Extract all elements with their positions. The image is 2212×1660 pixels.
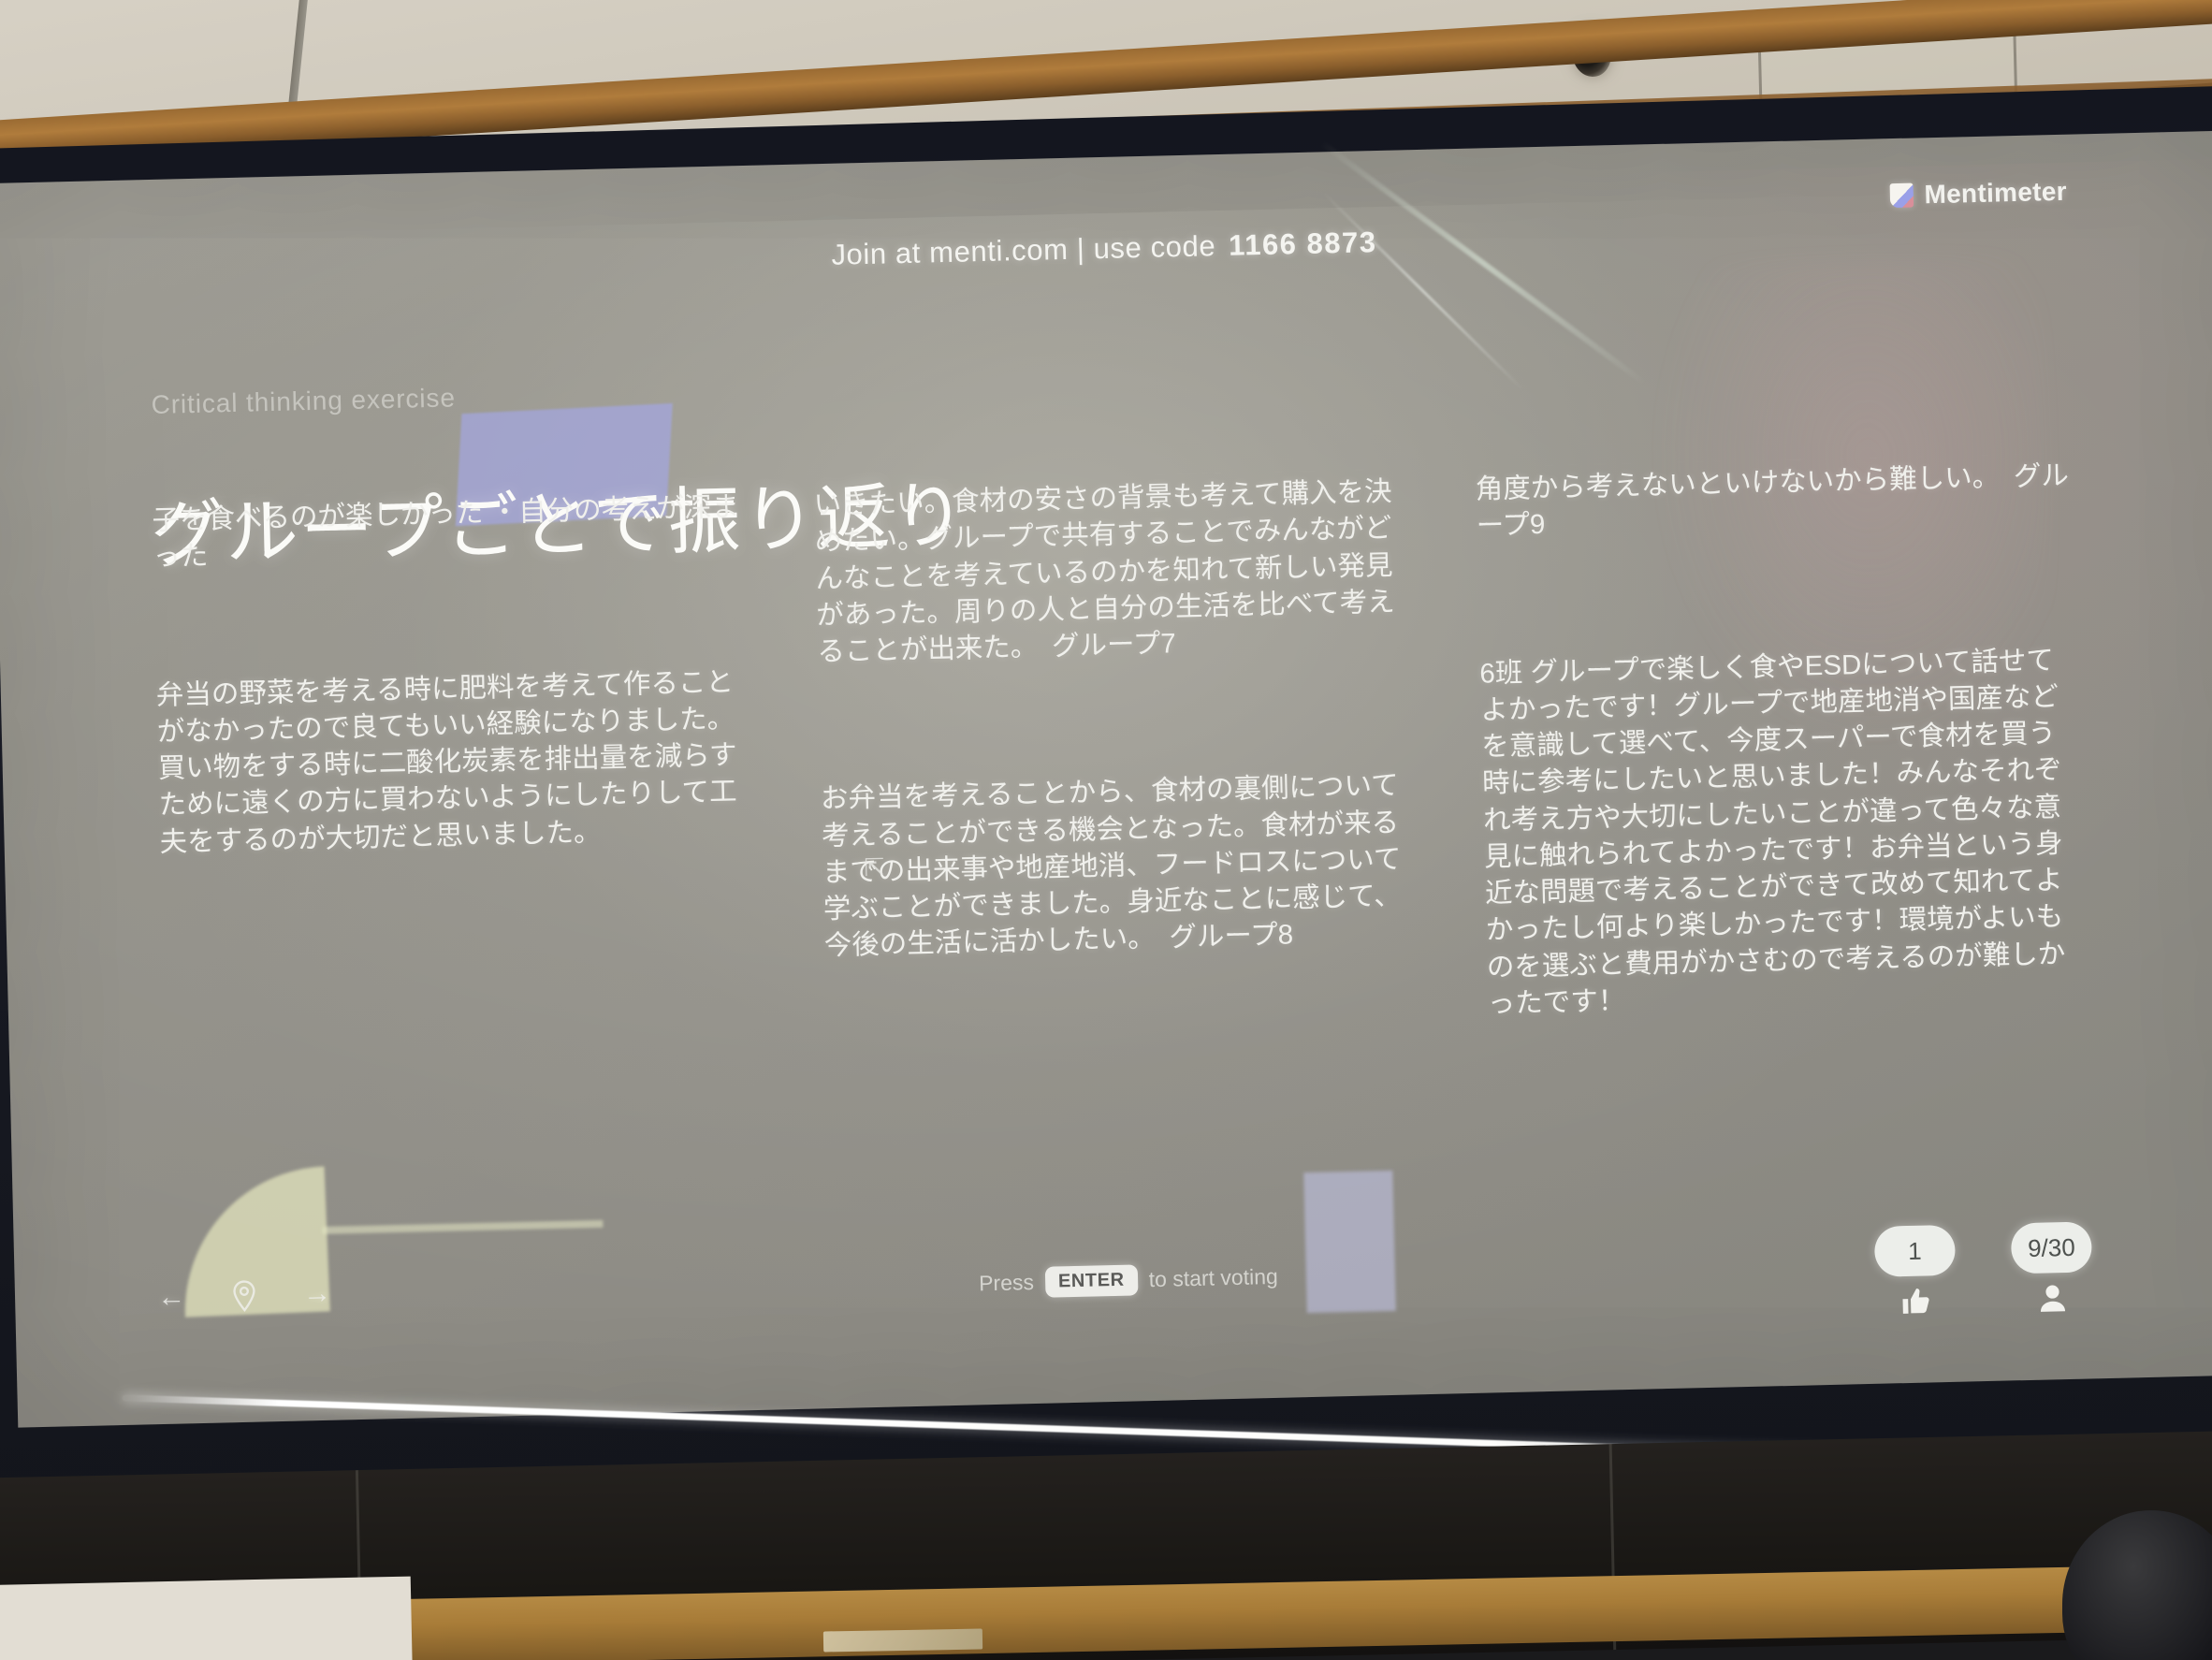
response-card: お弁当を考えることから、食材の裏側について考えることができる機会となった。食材が… xyxy=(821,767,1419,965)
responses-grid: に 自分の力で考えて取り組めなかった ・お菓子を食べるのが楽しかった ・自分の考… xyxy=(152,453,2088,1293)
engagement-counters: 1 9/30 xyxy=(1874,1221,2093,1323)
responses-column-3: 食べ物をどこから買うか迷いました。いろんな角度から考えないといけないから難しい。… xyxy=(1475,453,2088,1262)
slide-eyebrow: Critical thinking exercise xyxy=(151,383,456,420)
start-voting-hint: Press ENTER to start voting xyxy=(979,1261,1278,1300)
arrow-right-icon[interactable]: → xyxy=(301,1278,334,1311)
navigation-controls[interactable]: ← → xyxy=(155,1278,334,1314)
mentimeter-wordmark: Mentimeter xyxy=(1924,177,2067,211)
projection-screen: Join at menti.com | use code1166 8873 Me… xyxy=(0,131,2212,1428)
response-card: 弁当の野菜を考える時に肥料を考えて作ることがなかったので良てもいい経験になりまし… xyxy=(155,663,754,861)
responses-column-1: に 自分の力で考えて取り組めなかった ・お菓子を食べるのが楽しかった ・自分の考… xyxy=(152,484,764,1293)
arrow-left-icon[interactable]: ← xyxy=(155,1281,188,1314)
ledge-bracket xyxy=(823,1629,982,1653)
join-code: 1166 8873 xyxy=(1229,226,1377,262)
mentimeter-brand: Mentimeter xyxy=(1889,177,2067,211)
responses-column-2: 今までと違い、フードロスを自分に も活かしていきたい。食材の安さの背景も考えて購… xyxy=(813,468,1426,1277)
response-card: 食べ物をどこから買うか迷いました。いろんな角度から考えないといけないから難しい。… xyxy=(1474,453,2071,546)
join-text: Join at menti.com | use code xyxy=(831,229,1216,271)
join-instructions: Join at menti.com | use code1166 8873 xyxy=(131,209,2077,288)
response-card: 今までと違い、フードロスを自分に も活かしていきたい。食材の安さの背景も考えて購… xyxy=(812,453,1412,671)
enter-key-badge: ENTER xyxy=(1045,1264,1139,1297)
mentimeter-logo-icon xyxy=(1889,183,1914,209)
press-prefix-label: Press xyxy=(979,1270,1034,1296)
likes-counter[interactable]: 1 xyxy=(1874,1225,1957,1324)
response-card: 6班 グループで楽しく食やESDについて話せてよかったです！グループで地産地消や… xyxy=(1479,641,2082,1022)
participants-counter[interactable]: 9/30 xyxy=(2011,1221,2093,1320)
location-pin-icon[interactable] xyxy=(228,1280,261,1313)
thumbs-up-icon xyxy=(1899,1285,1932,1323)
person-icon xyxy=(2036,1282,2069,1320)
participants-count: 9/30 xyxy=(2011,1221,2092,1274)
likes-count: 1 xyxy=(1874,1225,1956,1277)
decorative-diagonal-streak xyxy=(1322,192,1524,391)
classroom-photo-scene: Join at menti.com | use code1166 8873 Me… xyxy=(0,0,2212,1660)
press-suffix-label: to start voting xyxy=(1148,1264,1278,1292)
mentimeter-slide: Join at menti.com | use code1166 8873 Me… xyxy=(130,171,2103,1387)
left-wall-segment xyxy=(0,1577,413,1660)
